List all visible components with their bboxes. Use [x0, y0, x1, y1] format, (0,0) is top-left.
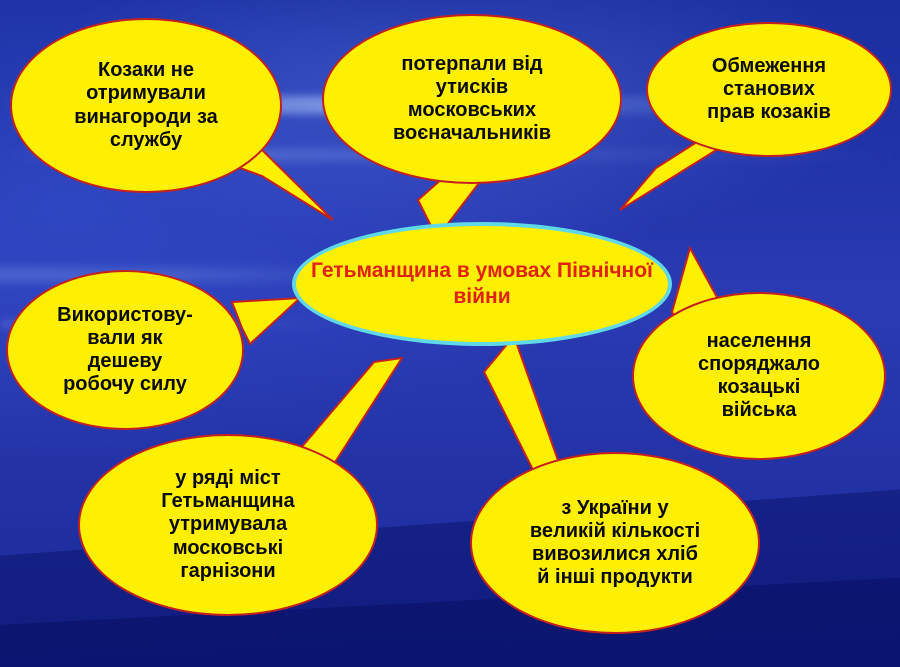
idea-bubble-top-right[interactable]: Обмеження станових прав козаків: [646, 22, 892, 157]
idea-bubble-label: Козаки не отримували винагороди за служб…: [64, 59, 228, 152]
idea-bubble-right[interactable]: населення споряджало козацькі війська: [632, 292, 886, 460]
idea-bubble-label: населення споряджало козацькі війська: [688, 330, 830, 423]
central-topic-label: Гетьманщина в умовах Північної війни: [296, 258, 668, 309]
idea-bubble-label: Використову- вали як дешеву робочу силу: [47, 304, 203, 397]
slide-canvas: Козаки не отримували винагороди за служб…: [0, 0, 900, 667]
idea-bubble-label: у ряді міст Гетьманщина утримувала моско…: [151, 467, 304, 583]
central-topic-ellipse[interactable]: Гетьманщина в умовах Північної війни: [292, 222, 672, 346]
idea-bubble-bottom-left[interactable]: у ряді міст Гетьманщина утримувала моско…: [78, 434, 378, 616]
idea-bubble-top-left[interactable]: Козаки не отримували винагороди за служб…: [10, 18, 282, 193]
idea-bubble-bottom-right[interactable]: з України у великій кількості вивозилися…: [470, 452, 760, 634]
idea-bubble-top-mid[interactable]: потерпали від утисків московських воєнач…: [322, 14, 622, 184]
idea-bubble-label: потерпали від утисків московських воєнач…: [383, 53, 561, 146]
idea-bubble-left[interactable]: Використову- вали як дешеву робочу силу: [6, 270, 244, 430]
idea-bubble-label: Обмеження станових прав козаків: [697, 55, 841, 125]
tail-bottom-right: [484, 336, 560, 480]
idea-bubble-label: з України у великій кількості вивозилися…: [520, 497, 710, 590]
